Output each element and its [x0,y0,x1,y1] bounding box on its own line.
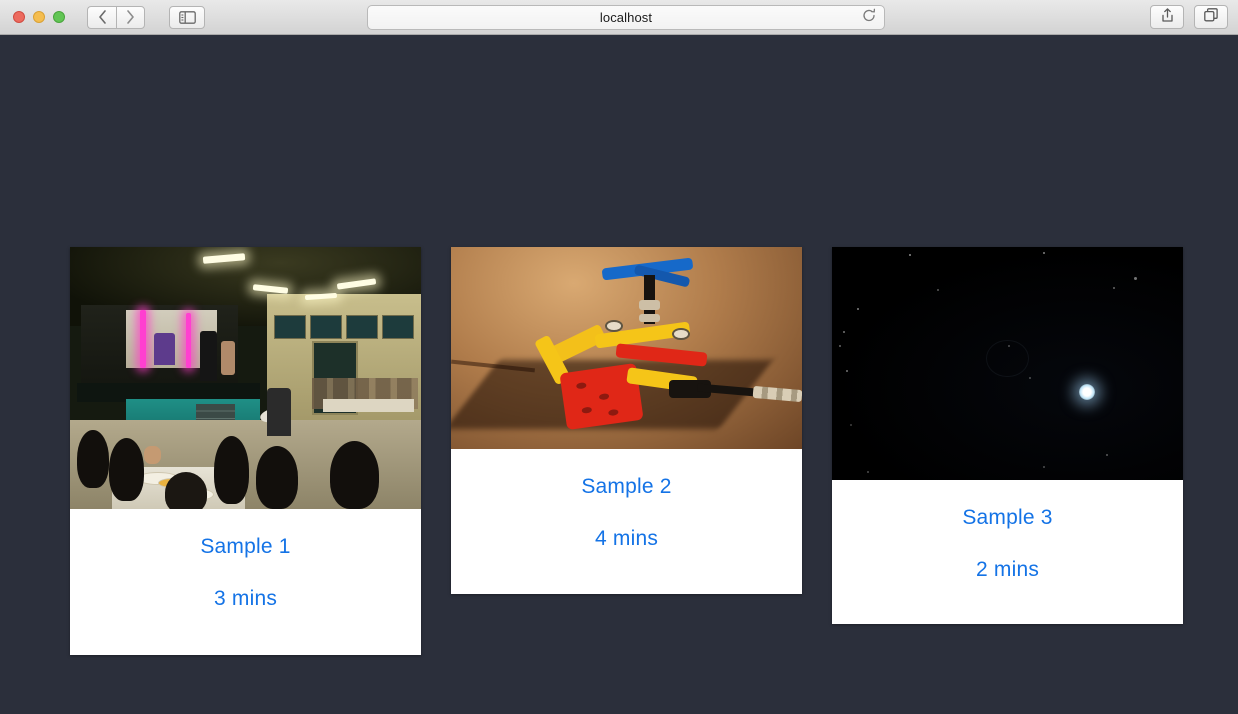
card-duration[interactable]: 2 mins [976,558,1039,582]
page-content: Sample 1 3 mins [0,35,1238,714]
thumbnail-night-sky-star[interactable] [832,247,1183,480]
tab-overview-icon [1204,8,1218,27]
bright-star [1079,384,1095,400]
card-body: Sample 1 3 mins [70,509,421,655]
navigation-buttons [87,6,145,29]
share-button[interactable] [1150,5,1184,29]
card-duration[interactable]: 3 mins [214,587,277,611]
card-title[interactable]: Sample 1 [200,535,290,559]
card-body: Sample 3 2 mins [832,480,1183,624]
address-bar[interactable]: localhost [367,5,885,30]
card-duration[interactable]: 4 mins [595,527,658,551]
forward-button[interactable] [116,6,145,29]
card-body: Sample 2 4 mins [451,449,802,594]
card-title[interactable]: Sample 2 [581,475,671,499]
close-window-icon[interactable] [13,11,25,23]
sidebar-icon [179,11,196,24]
toolbar-right-buttons [1150,5,1228,29]
address-bar-value[interactable]: localhost [600,10,652,25]
card-sample-1[interactable]: Sample 1 3 mins [70,247,421,655]
window-controls [8,11,65,23]
card-sample-2[interactable]: Sample 2 4 mins [451,247,802,594]
reload-icon[interactable] [862,8,876,27]
card-grid: Sample 1 3 mins [70,247,1183,655]
card-title[interactable]: Sample 3 [962,506,1052,530]
thumbnail-lego-technic-model[interactable] [451,247,802,449]
tab-overview-button[interactable] [1194,5,1228,29]
browser-toolbar: localhost [0,0,1238,35]
back-button[interactable] [87,6,116,29]
share-icon [1161,8,1174,27]
maximize-window-icon[interactable] [53,11,65,23]
chevron-left-icon [98,10,107,24]
sidebar-toggle-button[interactable] [169,6,205,29]
minimize-window-icon[interactable] [33,11,45,23]
card-sample-3[interactable]: Sample 3 2 mins [832,247,1183,624]
page-scrollbar[interactable] [1234,35,1238,714]
chevron-right-icon [126,10,135,24]
thumbnail-indoor-event-stage[interactable] [70,247,421,509]
